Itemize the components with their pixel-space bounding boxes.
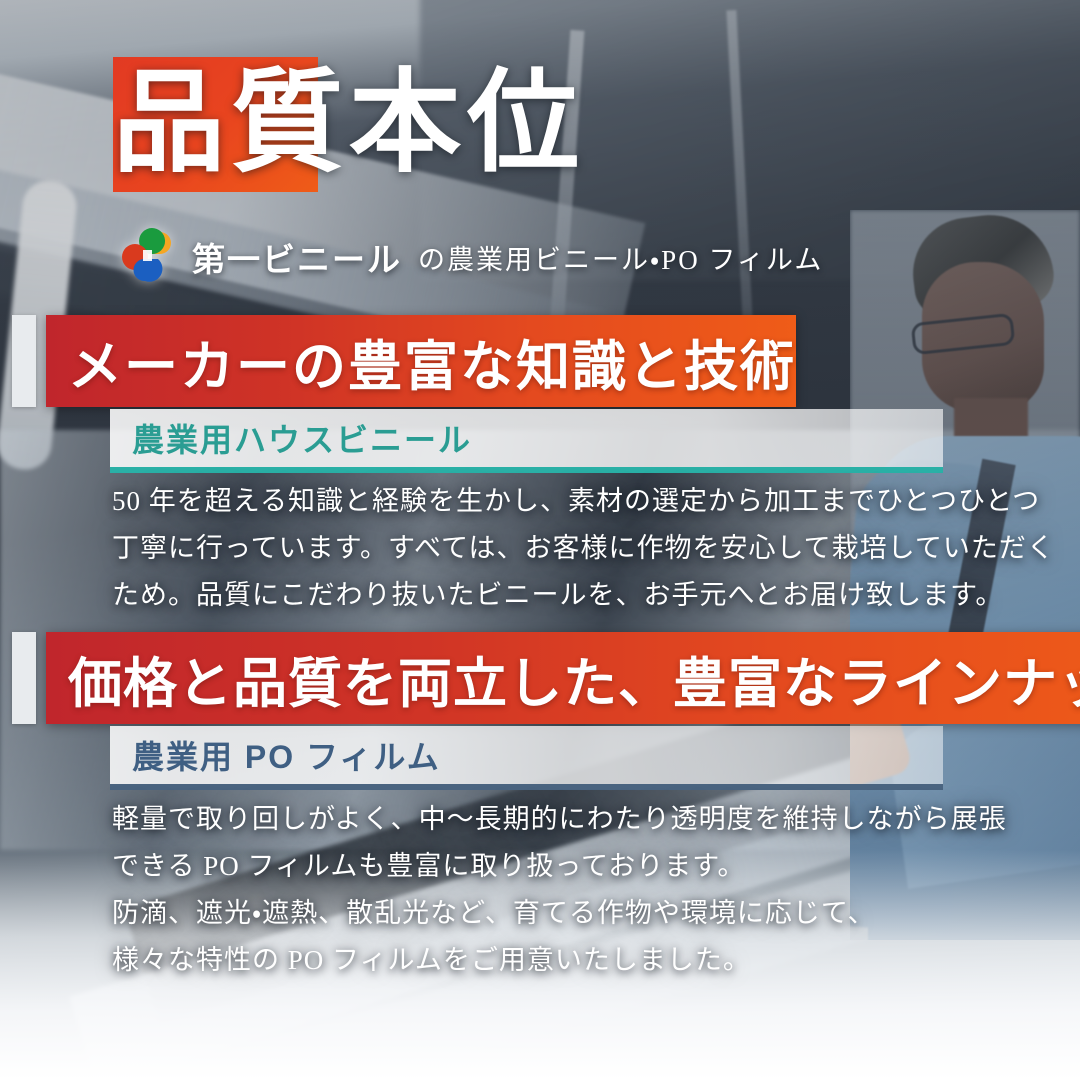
section-band-knowledge: メーカーの豊富な知識と技術: [12, 315, 723, 407]
subheading-po-film-plate: 農業用 PO フィルム: [110, 726, 943, 790]
brand-line: 第一ビニール の農業用ビニール・PO フィルム: [118, 228, 823, 286]
pinwheel-flower-logo-icon: [118, 228, 176, 286]
paragraph-po-film: 軽量で取り回しがよく、中〜長期的にわたり透明度を維持しながら展張 できる PO …: [112, 796, 962, 984]
paragraph-house-vinyl-line-3: ため。品質にこだわり抜いたビニールを、お手元へとお届け致します。: [112, 572, 962, 619]
subheading-house-vinyl-plate: 農業用ハウスビニール: [110, 409, 943, 473]
subheading-house-vinyl: 農業用ハウスビニール: [110, 412, 943, 470]
promo-banner: 品質本位 第一ビニール の農業用ビニール・PO フィルム メーカーの豊富な知識と…: [0, 0, 1080, 1080]
band-label-knowledge: メーカーの豊富な知識と技術: [46, 322, 796, 401]
subheading-house-vinyl-label: 農業用ハウスビニール: [110, 415, 472, 461]
paragraph-po-film-line-4: 様々な特性の PO フィルムをご用意いたしました。: [112, 937, 962, 984]
content-layer: 品質本位 第一ビニール の農業用ビニール・PO フィルム メーカーの豊富な知識と…: [0, 0, 1080, 1080]
band-tick-knowledge: [12, 315, 36, 407]
paragraph-po-film-line-3: 防滴、遮光・遮熱、散乱光など、育てる作物や環境に応じて、: [112, 890, 962, 937]
hero-title-text: 品質本位: [113, 57, 585, 192]
band-label-lineup: 価格と品質を両立した、豊富なラインナップ: [46, 639, 1080, 718]
band-tick-lineup: [12, 632, 36, 724]
hero-title: 品質本位: [113, 57, 585, 192]
paragraph-po-film-line-1: 軽量で取り回しがよく、中〜長期的にわたり透明度を維持しながら展張: [112, 796, 962, 843]
subheading-po-film-label: 農業用 PO フィルム: [110, 732, 441, 778]
paragraph-house-vinyl-line-2: 丁寧に行っています。すべては、お客様に作物を安心して栽培していただく: [112, 525, 962, 572]
section-band-lineup: 価格と品質を両立した、豊富なラインナップ: [12, 632, 958, 724]
paragraph-house-vinyl: 50 年を超える知識と経験を生かし、素材の選定から加工までひとつひとつ 丁寧に行…: [112, 478, 962, 619]
brand-name: 第一ビニール: [192, 233, 402, 281]
brand-tagline: の農業用ビニール・PO フィルム: [418, 238, 823, 277]
subheading-po-film: 農業用 PO フィルム: [110, 729, 943, 787]
paragraph-house-vinyl-line-1: 50 年を超える知識と経験を生かし、素材の選定から加工までひとつひとつ: [112, 478, 962, 525]
band-body-lineup: 価格と品質を両立した、豊富なラインナップ: [46, 632, 1080, 724]
band-body-knowledge: メーカーの豊富な知識と技術: [46, 315, 796, 407]
paragraph-po-film-line-2: できる PO フィルムも豊富に取り扱っております。: [112, 843, 962, 890]
